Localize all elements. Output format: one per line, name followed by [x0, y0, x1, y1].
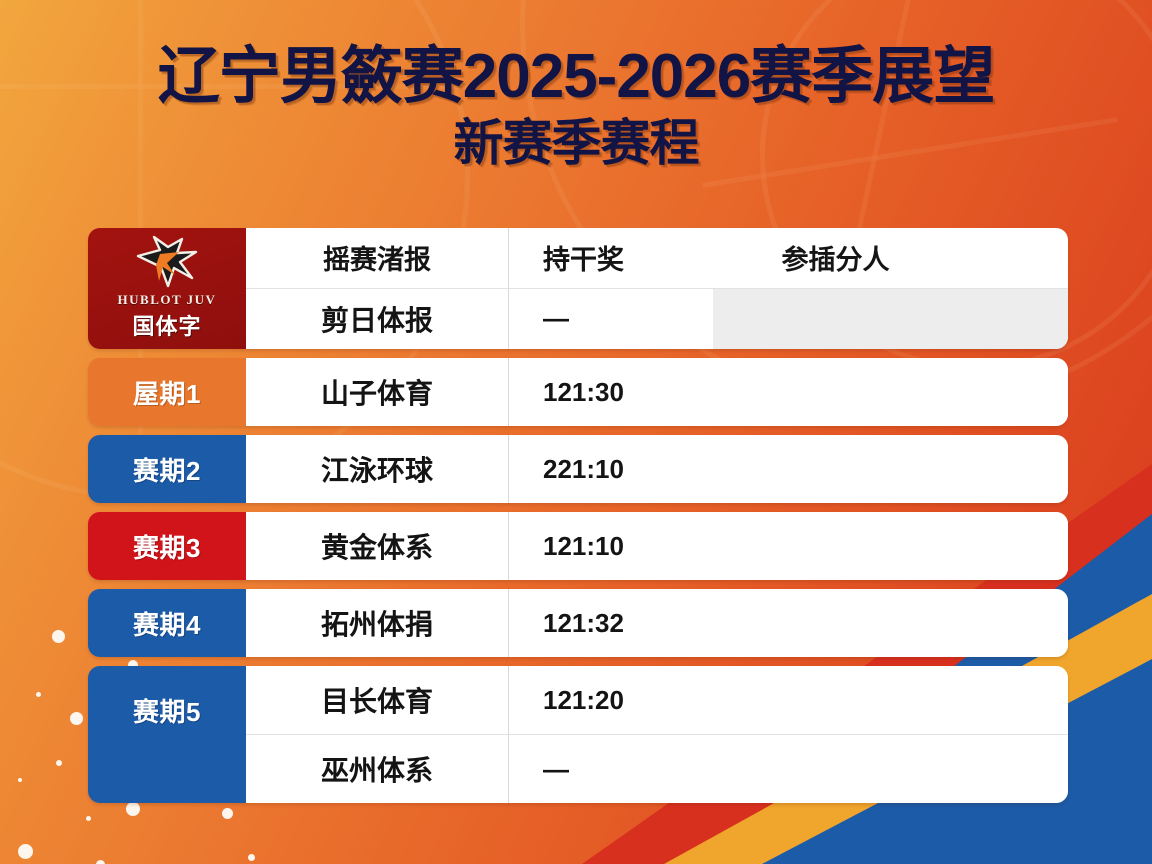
- row-body: 目长体育121:20巫州体系—: [246, 666, 1068, 803]
- match-score: 121:10: [509, 512, 713, 580]
- match-participants: [713, 435, 1068, 503]
- match-team: 目长体育: [246, 666, 509, 734]
- row-body: 黄金体系121:10: [246, 512, 1068, 580]
- table-row[interactable]: 赛期5目长体育121:20巫州体系—: [88, 666, 1068, 803]
- brand-logo-cell: HUBLOT JUV 国体字: [88, 228, 246, 349]
- match-participants: [713, 512, 1068, 580]
- logo-latin-text: HUBLOT JUV: [118, 292, 217, 308]
- logo-chinese-text: 国体字: [132, 309, 201, 341]
- match-score: 121:20: [509, 666, 713, 734]
- row-body: 江泳环球221:10: [246, 435, 1068, 503]
- match-subrow[interactable]: 拓州体捐121:32: [246, 589, 1068, 657]
- match-score: —: [509, 735, 713, 803]
- match-team: 山子体育: [246, 358, 509, 426]
- match-team: 拓州体捐: [246, 589, 509, 657]
- table-row[interactable]: 赛期4拓州体捐121:32: [88, 589, 1068, 657]
- match-participants: [713, 735, 1068, 803]
- star-figure-icon: [130, 234, 204, 290]
- page-subtitle: 新赛季赛程: [0, 116, 1152, 170]
- match-score: 121:30: [509, 358, 713, 426]
- header-subrow-blank: [713, 289, 1068, 350]
- headline-block: 辽宁男籢赛2025-2026赛季展望 新赛季赛程: [0, 44, 1152, 170]
- row-label-3: 赛期3: [88, 512, 246, 580]
- column-header-participants: 参插分人: [713, 228, 1068, 288]
- header-subrow-score: —: [509, 289, 713, 350]
- match-participants: [713, 358, 1068, 426]
- match-team: 巫州体系: [246, 735, 509, 803]
- column-header-score: 持干奖: [509, 228, 713, 288]
- table-row[interactable]: 赛期2江泳环球221:10: [88, 435, 1068, 503]
- match-team: 黄金体系: [246, 512, 509, 580]
- match-participants: [713, 589, 1068, 657]
- match-subrow[interactable]: 黄金体系121:10: [246, 512, 1068, 580]
- match-score: 121:32: [509, 589, 713, 657]
- row-body: 拓州体捐121:32: [246, 589, 1068, 657]
- match-subrow[interactable]: 江泳环球221:10: [246, 435, 1068, 503]
- poster-canvas: 辽宁男籢赛2025-2026赛季展望 新赛季赛程 HUBLOT JUV 国体字 …: [0, 0, 1152, 864]
- table-header-row: HUBLOT JUV 国体字 摇赛渚报 持干奖 参插分人 剪日体报 —: [88, 228, 1068, 349]
- column-header-match: 摇赛渚报: [246, 228, 509, 288]
- match-subrow[interactable]: 巫州体系—: [246, 734, 1068, 803]
- match-subrow[interactable]: 山子体育121:30: [246, 358, 1068, 426]
- row-body: 山子体育121:30: [246, 358, 1068, 426]
- row-label-4: 赛期4: [88, 589, 246, 657]
- row-label-1: 屋期1: [88, 358, 246, 426]
- match-score: 221:10: [509, 435, 713, 503]
- row-label-5: 赛期5: [88, 666, 246, 803]
- table-row[interactable]: 赛期3黄金体系121:10: [88, 512, 1068, 580]
- page-title: 辽宁男籢赛2025-2026赛季展望: [0, 44, 1152, 110]
- schedule-table: HUBLOT JUV 国体字 摇赛渚报 持干奖 参插分人 剪日体报 — 屋期1山…: [88, 228, 1068, 803]
- match-participants: [713, 666, 1068, 734]
- header-subrow-team: 剪日体报: [246, 289, 509, 350]
- table-row[interactable]: 屋期1山子体育121:30: [88, 358, 1068, 426]
- match-subrow[interactable]: 目长体育121:20: [246, 666, 1068, 734]
- row-label-2: 赛期2: [88, 435, 246, 503]
- match-team: 江泳环球: [246, 435, 509, 503]
